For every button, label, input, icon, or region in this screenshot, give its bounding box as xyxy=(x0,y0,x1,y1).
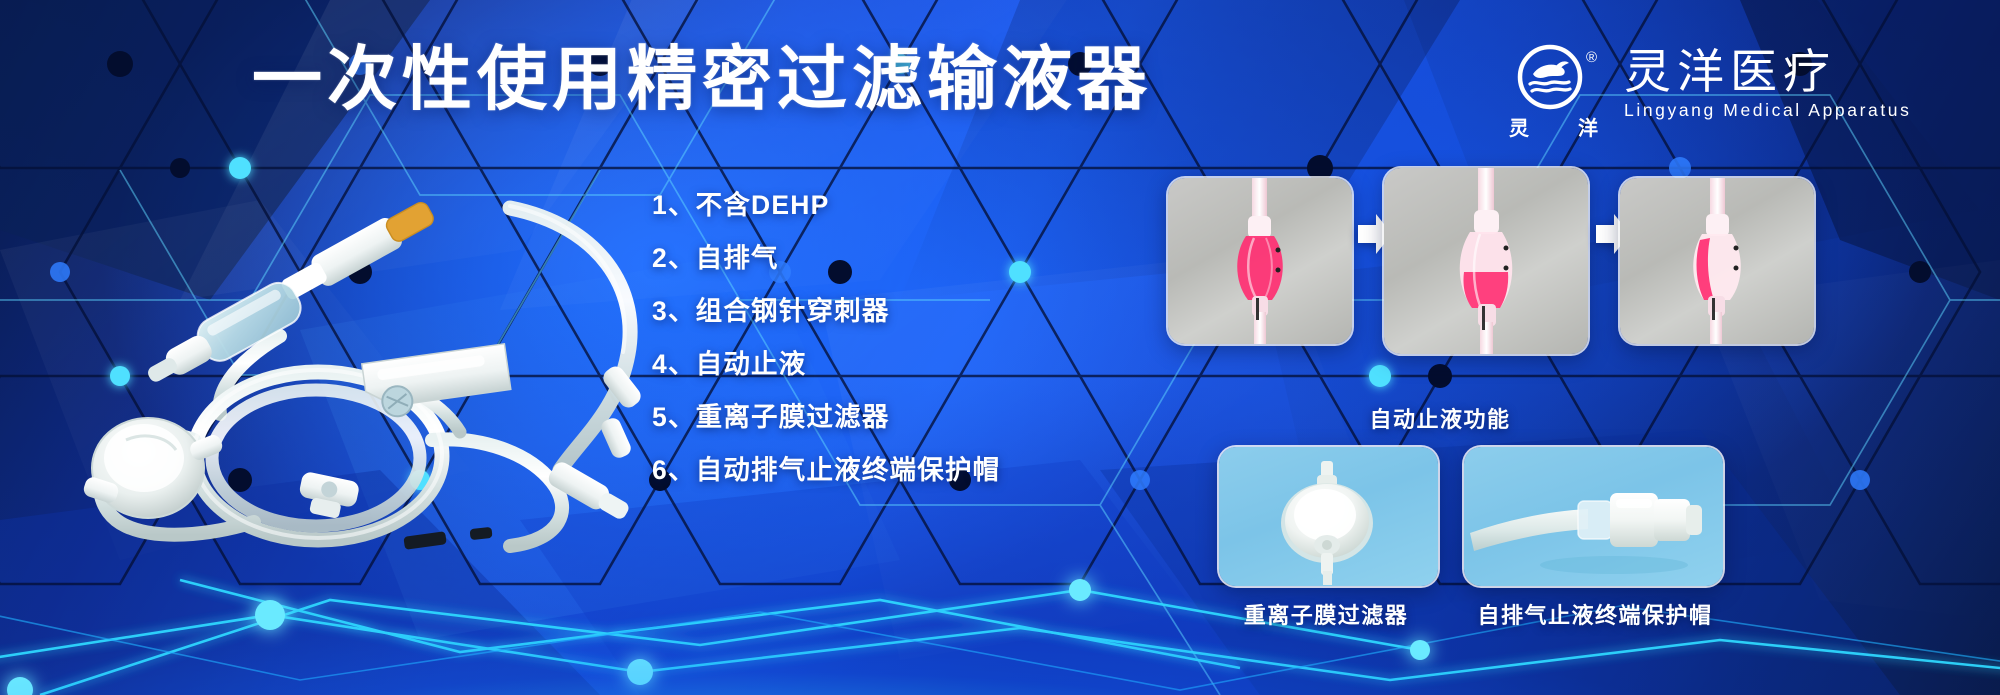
auto-stop-frame-3 xyxy=(1620,178,1814,344)
page-title: 一次性使用精密过滤输液器 xyxy=(252,44,1152,114)
feature-item-5: 5、重离子膜过滤器 xyxy=(652,388,1000,441)
logo-emblem-group: ® 灵 洋 xyxy=(1506,44,1602,141)
feature-item-4: 4、自动止液 xyxy=(652,335,1000,388)
feature-item-1: 1、不含DEHP xyxy=(652,176,1000,229)
company-name-cn: 灵洋医疗 xyxy=(1624,48,1911,97)
protective-cap-caption: 自排气止液终端保护帽 xyxy=(1477,598,1712,630)
auto-stop-caption: 自动止液功能 xyxy=(1369,402,1510,434)
auto-stop-frame-1 xyxy=(1168,178,1352,344)
hero-product-image xyxy=(40,140,660,560)
feature-item-3: 3、组合钢针穿刺器 xyxy=(652,282,1000,335)
filter-photo xyxy=(1219,447,1438,586)
wave-dolphin-emblem-icon: ® xyxy=(1506,44,1602,110)
logo-mark-char-right: 洋 xyxy=(1578,112,1599,141)
filter-caption: 重离子膜过滤器 xyxy=(1244,598,1409,630)
svg-text:®: ® xyxy=(1586,49,1597,66)
logo-mark-char-left: 灵 xyxy=(1509,112,1530,141)
logo-wordmark: 灵洋医疗 Lingyang Medical Apparatus xyxy=(1624,44,1911,121)
auto-stop-frame-2 xyxy=(1384,168,1588,354)
company-name-en: Lingyang Medical Apparatus xyxy=(1624,100,1911,121)
brand-logo: ® 灵 洋 灵洋医疗 Lingyang Medical Apparatus xyxy=(1506,44,1911,141)
protective-cap-photo xyxy=(1464,447,1723,586)
product-banner: 一次性使用精密过滤输液器 ® 灵 洋 灵洋医疗 Lingyang Medical… xyxy=(0,0,2000,695)
feature-item-2: 2、自排气 xyxy=(652,229,1000,282)
feature-item-6: 6、自动排气止液终端保护帽 xyxy=(652,441,1000,494)
feature-list: 1、不含DEHP 2、自排气 3、组合钢针穿刺器 4、自动止液 5、重离子膜过滤… xyxy=(652,176,1000,494)
